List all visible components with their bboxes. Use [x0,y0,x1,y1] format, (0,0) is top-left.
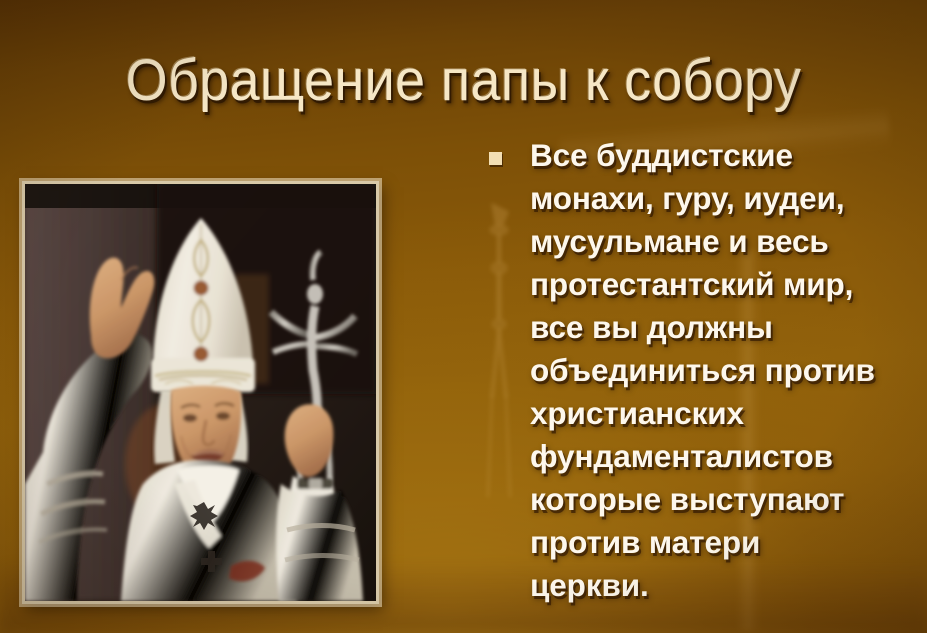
bullet-list: Все буддистские монахи, гуру, иудеи, мус… [486,134,927,607]
bullet-text: Все буддистские монахи, гуру, иудеи, мус… [530,137,875,603]
pope-photo-image [25,184,376,601]
presentation-slide: Обращение папы к собору [0,0,927,633]
list-item: Все буддистские монахи, гуру, иудеи, мус… [486,134,927,607]
square-bullet-icon [489,152,502,165]
pope-photo [25,184,376,601]
slide-title: Обращение папы к собору [32,41,894,121]
photo-frame [22,181,379,604]
